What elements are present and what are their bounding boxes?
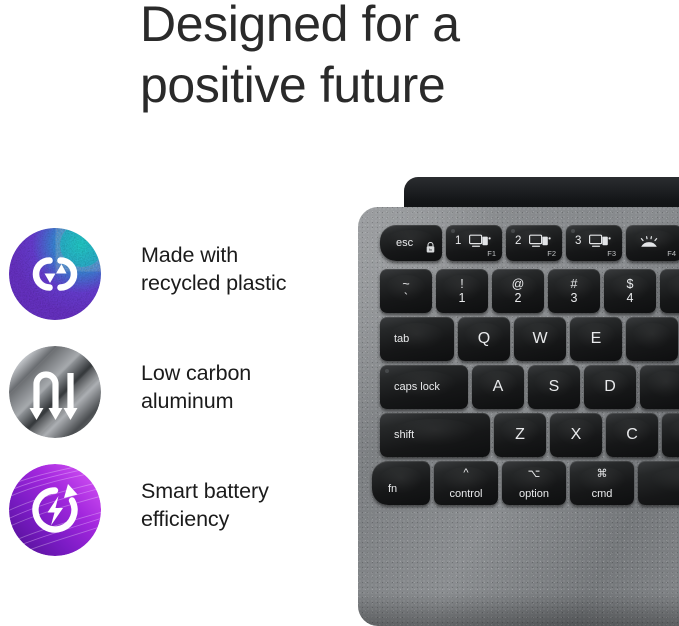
key-3[interactable]: # 3 <box>548 269 600 313</box>
led-indicator <box>511 229 515 233</box>
feature-item-recycled-plastic: Made with recycled plastic <box>8 227 358 345</box>
page-title: Designed for a positive future <box>140 0 610 116</box>
keyboard-key-deck: esc fn 1 <box>358 207 679 626</box>
backlight-icon <box>638 236 662 253</box>
key-z[interactable]: Z <box>494 413 546 457</box>
key-control[interactable]: ^ control <box>434 461 498 505</box>
key-1[interactable]: ! 1 <box>436 269 488 313</box>
feature-label: Low carbon aluminum <box>141 359 356 415</box>
option-alt-icon: ⌥ <box>528 467 541 480</box>
key-e[interactable]: E <box>570 317 622 361</box>
key-f1[interactable]: 1 F1 <box>446 225 502 261</box>
feature-label: Made with recycled plastic <box>141 241 356 297</box>
promo-graphic: Designed for a positive future <box>0 0 679 626</box>
key-s[interactable]: S <box>528 365 580 409</box>
key-space[interactable] <box>638 461 679 505</box>
key-shift[interactable]: shift <box>380 413 490 457</box>
key-4[interactable]: $ 4 <box>604 269 656 313</box>
key-f2[interactable]: 2 F2 <box>506 225 562 261</box>
key-f3[interactable]: 3 F3 <box>566 225 622 261</box>
control-caret-icon: ^ <box>463 467 468 479</box>
key-option[interactable]: ⌥ option <box>502 461 566 505</box>
key-esc[interactable]: esc fn <box>380 225 442 261</box>
led-indicator <box>385 369 389 373</box>
feature-label: Smart battery efficiency <box>141 477 356 533</box>
led-indicator <box>451 229 455 233</box>
command-icon: ⌘ <box>597 467 608 480</box>
key-tilde[interactable]: ~ ` <box>380 269 432 313</box>
key-v[interactable] <box>662 413 679 457</box>
key-x[interactable]: X <box>550 413 602 457</box>
key-f4[interactable]: F4 <box>626 225 679 261</box>
key-fn[interactable]: fn <box>372 461 430 505</box>
svg-text:fn: fn <box>429 248 432 252</box>
key-a[interactable]: A <box>472 365 524 409</box>
lock-icon: fn <box>426 242 435 256</box>
key-r[interactable] <box>626 317 678 361</box>
keyboard-product-image: esc fn 1 <box>358 177 679 626</box>
feature-item-smart-battery-efficiency: Smart battery efficiency <box>8 463 358 581</box>
led-indicator <box>571 229 575 233</box>
key-f[interactable] <box>640 365 679 409</box>
feature-list: Made with recycled plastic <box>8 227 358 581</box>
key-cmd[interactable]: ⌘ cmd <box>570 461 634 505</box>
key-caps-lock[interactable]: caps lock <box>380 365 468 409</box>
recycling-loop-icon <box>8 227 102 321</box>
feature-item-low-carbon-aluminum: Low carbon aluminum <box>8 345 358 463</box>
key-w[interactable]: W <box>514 317 566 361</box>
key-tab[interactable]: tab <box>380 317 454 361</box>
key-c[interactable]: C <box>606 413 658 457</box>
key-d[interactable]: D <box>584 365 636 409</box>
key-5[interactable] <box>660 269 679 313</box>
aluminum-al-down-arrows-icon <box>8 345 102 439</box>
battery-recharge-bolt-icon <box>8 463 102 557</box>
key-2[interactable]: @ 2 <box>492 269 544 313</box>
key-q[interactable]: Q <box>458 317 510 361</box>
